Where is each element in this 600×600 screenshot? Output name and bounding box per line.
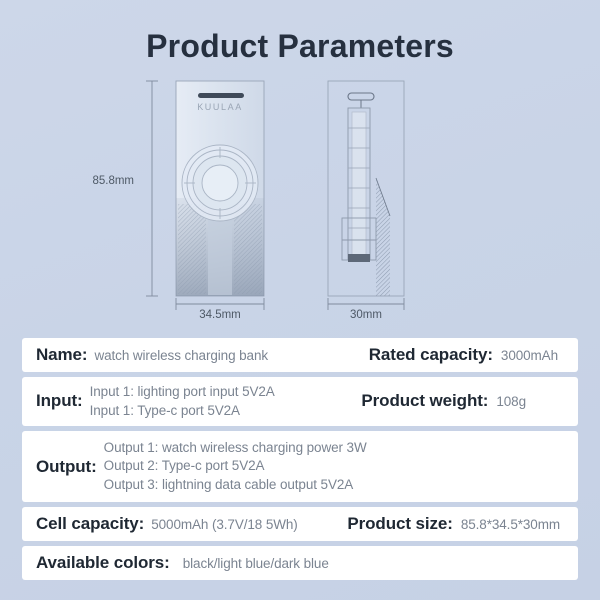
side-connector <box>348 254 370 262</box>
product-technical-drawing: 85.8mm KUULAA <box>90 68 510 318</box>
spec-label-output: Output: <box>36 456 97 477</box>
coiled-cable-hatch <box>376 178 390 296</box>
spec-label-product-size: Product size: <box>347 514 452 534</box>
wireless-charging-coil <box>182 145 258 221</box>
spec-value-input-list: Input 1: lighting port input 5V2A Input … <box>90 383 275 420</box>
spec-value-product-size: 85.8*34.5*30mm <box>461 517 560 532</box>
spec-label-name: Name: <box>36 345 87 365</box>
spec-label-product-weight: Product weight: <box>361 391 488 411</box>
side-width-dimension-label: 30mm <box>350 309 382 318</box>
height-dimension-line <box>146 81 158 296</box>
spec-value-output-list: Output 1: watch wireless charging power … <box>104 439 367 494</box>
side-view-group: 30mm <box>328 81 404 318</box>
spec-value-name: watch wireless charging bank <box>94 348 268 363</box>
spec-label-input: Input: <box>36 391 83 411</box>
spec-value-input-line-1: Input 1: lighting port input 5V2A <box>90 383 275 401</box>
product-diagram-area: 85.8mm KUULAA <box>0 68 600 318</box>
spec-value-output-line-3: Output 3: lightning data cable output 5V… <box>104 476 367 494</box>
spec-row-cell-capacity: Cell capacity: 5000mAh (3.7V/18 5Wh) Pro… <box>22 507 578 541</box>
spec-label-rated-capacity: Rated capacity: <box>369 345 493 365</box>
front-width-dimension-label: 34.5mm <box>199 309 241 318</box>
front-view-group: 85.8mm KUULAA <box>92 81 264 318</box>
front-left-hatch <box>178 204 206 294</box>
side-lanyard-loop <box>348 93 374 100</box>
spec-value-output-line-2: Output 2: Type-c port 5V2A <box>104 457 367 475</box>
internal-column-inner <box>352 112 366 258</box>
lanyard-slot <box>198 93 244 98</box>
spec-value-input-line-2: Input 1: Type-c port 5V2A <box>90 402 275 420</box>
spec-row-name: Name: watch wireless charging bank Rated… <box>22 338 578 372</box>
spec-row-input: Input: Input 1: lighting port input 5V2A… <box>22 377 578 426</box>
spec-row-available-colors: Available colors: black/light blue/dark … <box>22 546 578 580</box>
height-dimension-label: 85.8mm <box>92 175 134 187</box>
spec-value-output-line-1: Output 1: watch wireless charging power … <box>104 439 367 457</box>
brand-logo-text: KUULAA <box>197 102 243 112</box>
spec-row-output: Output: Output 1: watch wireless chargin… <box>22 431 578 502</box>
page-title: Product Parameters <box>0 0 600 62</box>
spec-value-cell-capacity: 5000mAh (3.7V/18 5Wh) <box>151 517 297 532</box>
front-right-hatch <box>234 204 262 294</box>
spec-value-rated-capacity: 3000mAh <box>501 348 558 363</box>
spec-label-available-colors: Available colors: <box>36 553 170 573</box>
spec-value-available-colors: black/light blue/dark blue <box>177 556 329 571</box>
spec-label-cell-capacity: Cell capacity: <box>36 514 144 534</box>
spec-value-product-weight: 108g <box>496 394 526 409</box>
spec-table: Name: watch wireless charging bank Rated… <box>22 338 578 580</box>
